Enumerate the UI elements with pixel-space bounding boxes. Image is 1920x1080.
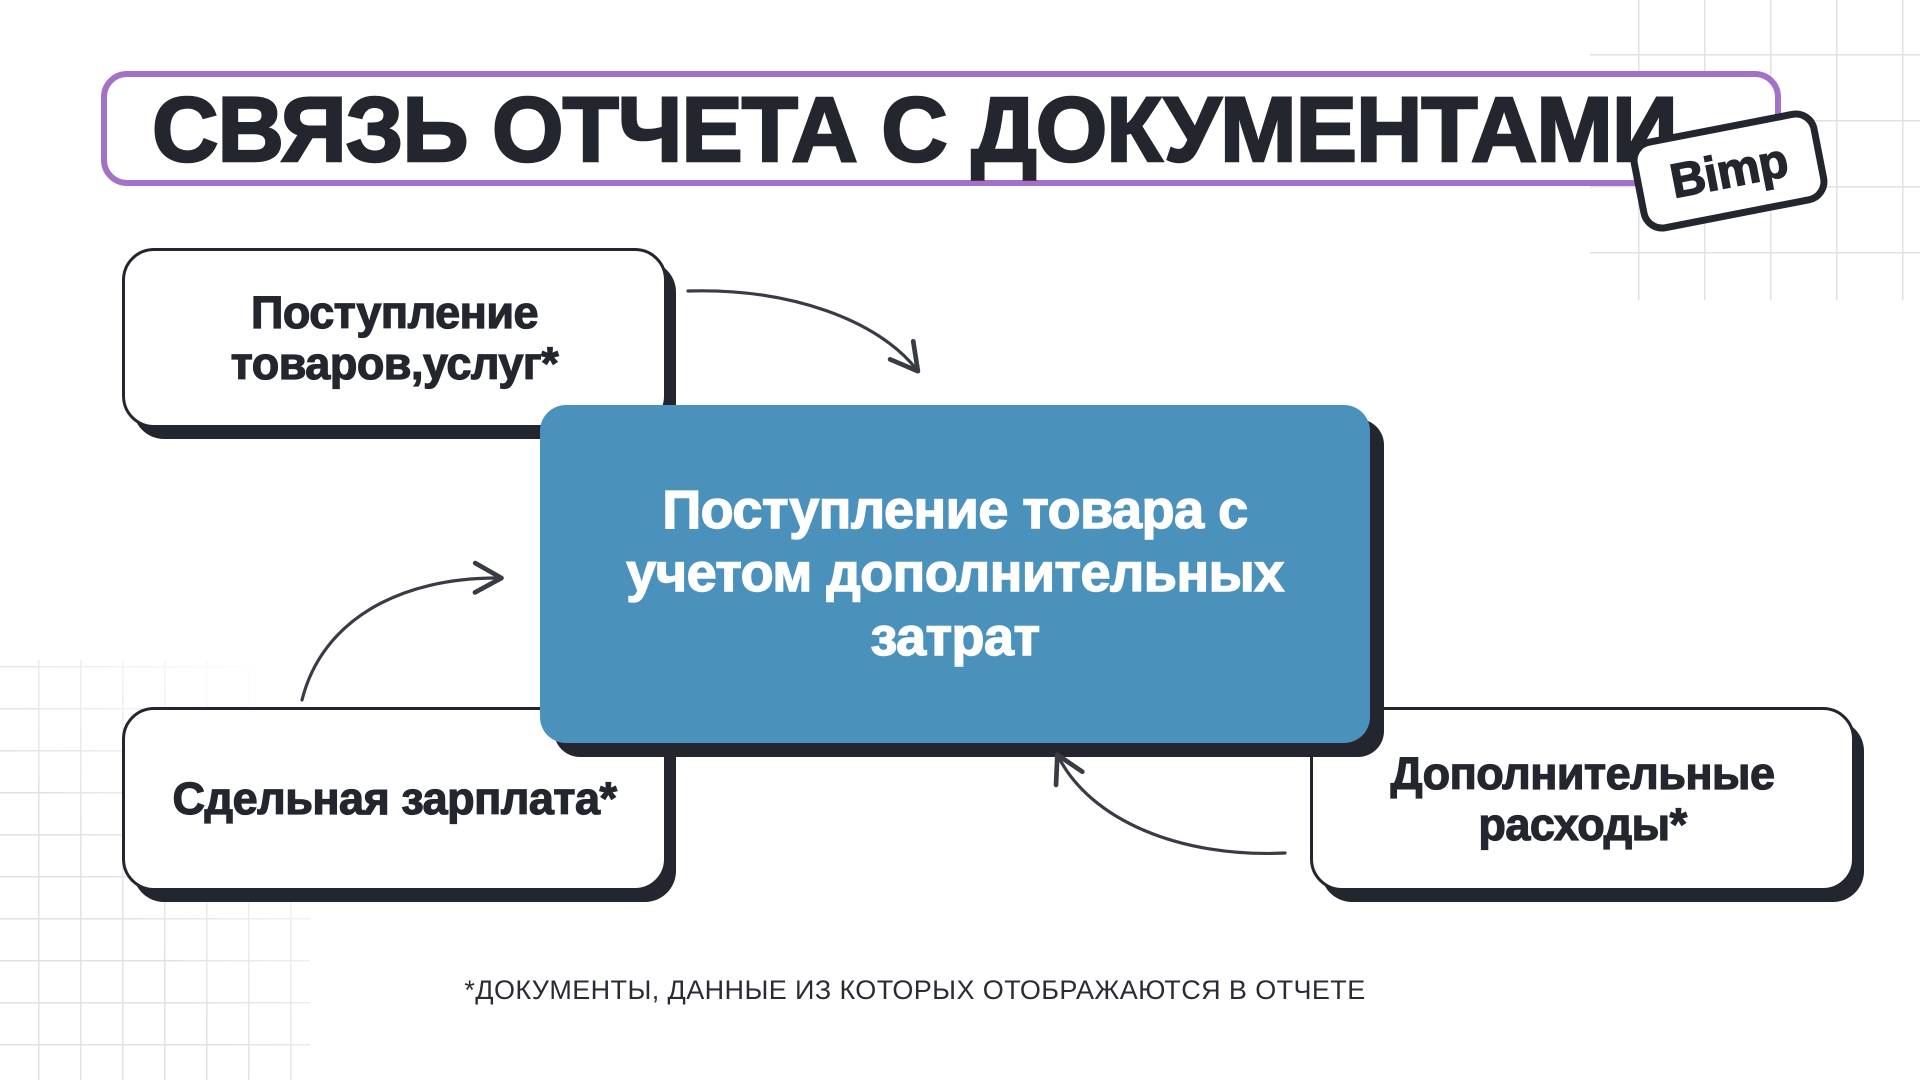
node-receipt-goods-services[interactable]: Поступление товаров,услуг* (122, 248, 667, 428)
node-goods-receipt-with-extra-costs-label: Поступление товара с учетом дополнительн… (540, 479, 1370, 669)
node-additional-expenses[interactable]: Дополнительные расходы* (1310, 707, 1855, 891)
arrow-receipt-to-center (688, 291, 917, 370)
slide-canvas: СВЯЗЬ ОТЧЕТА С ДОКУМЕНТАМИ Bimp Поступле… (0, 0, 1920, 1080)
page-title: СВЯЗЬ ОТЧЕТА С ДОКУМЕНТАМИ (152, 74, 1872, 186)
node-additional-expenses-label: Дополнительные расходы* (1313, 748, 1852, 851)
footnote-text: *ДОКУМЕНТЫ, ДАННЫЕ ИЗ КОТОРЫХ ОТОБРАЖАЮТ… (0, 975, 1920, 1006)
node-goods-receipt-with-extra-costs[interactable]: Поступление товара с учетом дополнительн… (540, 405, 1370, 743)
arrow-extra-to-center (1058, 756, 1285, 853)
node-receipt-goods-services-label: Поступление товаров,услуг* (125, 287, 664, 390)
arrow-piecework-to-center (302, 578, 500, 700)
brand-badge-label: Bimp (1666, 133, 1792, 210)
node-piecework-salary-label: Сдельная зарплата* (151, 773, 639, 824)
